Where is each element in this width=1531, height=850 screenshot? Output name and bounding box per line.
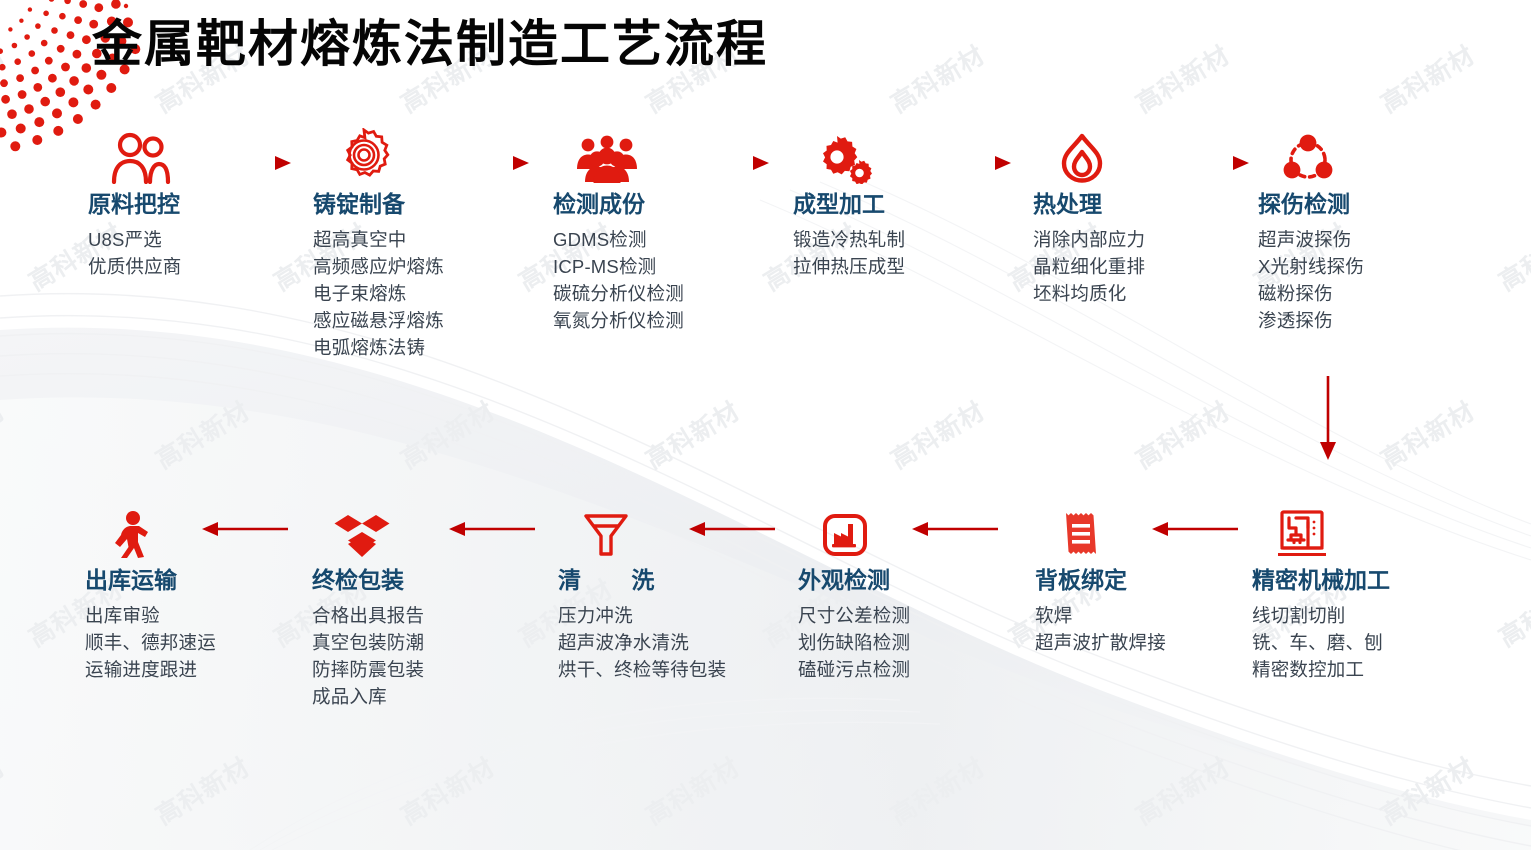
step-title: 外观检测 — [798, 568, 1013, 593]
step-title: 成型加工 — [793, 192, 1008, 217]
list-item: 磁粉探伤 — [1258, 280, 1473, 307]
step-items: 锻造冷热轧制 拉伸热压成型 — [793, 226, 1008, 280]
step-items: 合格出具报告 真空包装防潮 防摔防震包装 成品入库 — [312, 602, 527, 710]
list-item: 碳硫分析仪检测 — [553, 280, 768, 307]
flow-arrow-left-2 — [908, 518, 998, 540]
flow-arrow-left-4 — [445, 518, 535, 540]
list-item: 烘干、终检等待包装 — [558, 656, 743, 683]
step-title: 终检包装 — [312, 568, 527, 593]
flow-arrow-right-4 — [925, 152, 1015, 174]
list-item: 高频感应炉熔炼 — [313, 253, 528, 280]
list-item: 超声波探伤 — [1258, 226, 1473, 253]
cnc-machine-icon — [1252, 504, 1467, 560]
flow-arrow-left-1 — [1148, 518, 1238, 540]
list-item: 顺丰、德邦速运 — [85, 629, 300, 656]
list-item: 电弧熔炼法铸 — [313, 334, 528, 361]
list-item: 线切割切削 — [1252, 602, 1467, 629]
step-items: 尺寸公差检测 划伤缺陷检测 磕碰污点检测 — [798, 602, 1013, 683]
step-items: 消除内部应力 晶粒细化重排 坯料均质化 — [1033, 226, 1248, 307]
step-title: 热处理 — [1033, 192, 1248, 217]
step-title: 出库运输 — [85, 568, 300, 593]
step-title: 清 洗 — [558, 568, 773, 593]
list-item: 铣、车、磨、刨 — [1252, 629, 1467, 656]
flow-arrow-right-3 — [683, 152, 773, 174]
list-item: U8S严选 — [88, 226, 303, 253]
list-item: 晶粒细化重排 — [1033, 253, 1248, 280]
list-item: 超声波净水清洗 — [558, 629, 743, 656]
step-title: 铸锭制备 — [313, 192, 528, 217]
list-item: 运输进度跟进 — [85, 656, 300, 683]
list-item: ICP-MS检测 — [553, 253, 768, 280]
list-item: 出库审验 — [85, 602, 300, 629]
step-items: GDMS检测 ICP-MS检测 碳硫分析仪检测 氧氮分析仪检测 — [553, 226, 768, 334]
list-item: GDMS检测 — [553, 226, 768, 253]
list-item: 磕碰污点检测 — [798, 656, 1013, 683]
list-item: 坯料均质化 — [1033, 280, 1248, 307]
step-items: 线切割切削 铣、车、磨、刨 精密数控加工 — [1252, 602, 1467, 683]
step-title: 探伤检测 — [1258, 192, 1473, 217]
list-item: 合格出具报告 — [312, 602, 527, 629]
list-item: 精密数控加工 — [1252, 656, 1467, 683]
list-item: 感应磁悬浮熔炼 — [313, 307, 528, 334]
list-item: 氧氮分析仪检测 — [553, 307, 768, 334]
step-items: U8S严选 优质供应商 — [88, 226, 303, 280]
flow-arrow-right-1 — [205, 152, 295, 174]
process-step-1[interactable]: 原料把控 U8S严选 优质供应商 — [88, 128, 303, 280]
list-item: 超高真空中 — [313, 226, 528, 253]
step-items: 软焊 超声波扩散焊接 — [1035, 602, 1250, 656]
list-item: 成品入库 — [312, 683, 527, 710]
step-title: 原料把控 — [88, 192, 303, 217]
list-item: 拉伸热压成型 — [793, 253, 1008, 280]
process-step-6[interactable]: 探伤检测 超声波探伤 X光射线探伤 磁粉探伤 渗透探伤 — [1258, 128, 1473, 334]
flow-arrow-right-5 — [1163, 152, 1253, 174]
page-title: 金属靶材熔炼法制造工艺流程 — [92, 4, 768, 76]
list-item: 消除内部应力 — [1033, 226, 1248, 253]
list-item: 防摔防震包装 — [312, 656, 527, 683]
list-item: 尺寸公差检测 — [798, 602, 1013, 629]
step-title: 精密机械加工 — [1252, 568, 1467, 593]
list-item: 锻造冷热轧制 — [793, 226, 1008, 253]
list-item: 电子束熔炼 — [313, 280, 528, 307]
list-item: 优质供应商 — [88, 253, 303, 280]
step-items: 出库审验 顺丰、德邦速运 运输进度跟进 — [85, 602, 300, 683]
flow-arrow-right-2 — [443, 152, 533, 174]
step-items: 超声波探伤 X光射线探伤 磁粉探伤 渗透探伤 — [1258, 226, 1473, 334]
list-item: 压力冲洗 — [558, 602, 743, 629]
list-item: 软焊 — [1035, 602, 1250, 629]
step-title: 背板绑定 — [1035, 568, 1250, 593]
step-title: 检测成份 — [553, 192, 768, 217]
list-item: 超声波扩散焊接 — [1035, 629, 1250, 656]
step-items: 压力冲洗 超声波净水清洗 烘干、终检等待包装 — [558, 602, 743, 683]
process-step-7[interactable]: 精密机械加工 线切割切削 铣、车、磨、刨 精密数控加工 — [1252, 504, 1467, 683]
process-flow: 原料把控 U8S严选 优质供应商 铸锭制备 超高真空中 高频感应炉熔炼 电子束熔… — [0, 0, 1531, 850]
flow-arrow-down — [1310, 376, 1346, 462]
list-item: X光射线探伤 — [1258, 253, 1473, 280]
header: 金属靶材熔炼法制造工艺流程 — [0, 0, 1531, 86]
flow-arrow-left-3 — [685, 518, 775, 540]
list-item: 渗透探伤 — [1258, 307, 1473, 334]
process-step-4[interactable]: 成型加工 锻造冷热轧制 拉伸热压成型 — [793, 128, 1008, 280]
list-item: 真空包装防潮 — [312, 629, 527, 656]
share-nodes-icon — [1258, 128, 1473, 184]
flow-arrow-left-5 — [198, 518, 288, 540]
step-items: 超高真空中 高频感应炉熔炼 电子束熔炼 感应磁悬浮熔炼 电弧熔炼法铸 — [313, 226, 528, 361]
list-item: 划伤缺陷检测 — [798, 629, 1013, 656]
